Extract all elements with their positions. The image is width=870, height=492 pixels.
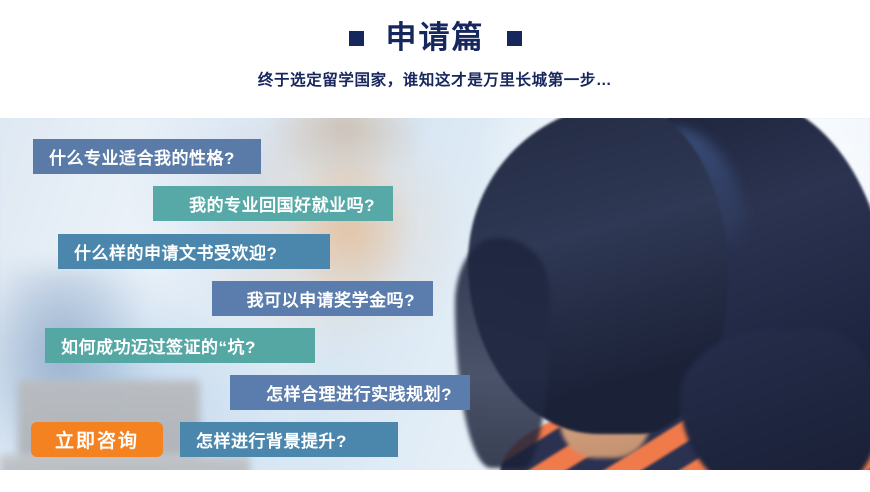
promo-banner-page: 申请篇 终于选定留学国家，谁知这才是万里长城第一步… 什么专	[0, 0, 870, 492]
question-tag-4[interactable]: 我可以申请奖学金吗?	[212, 281, 433, 316]
square-bullet-left-icon	[349, 31, 364, 46]
question-tag-2[interactable]: 我的专业回国好就业吗?	[153, 186, 393, 221]
question-tag-6[interactable]: 怎样合理进行实践规划?	[230, 375, 470, 410]
hero-banner: 什么专业适合我的性格?我的专业回国好就业吗?什么样的申请文书受欢迎?我可以申请奖…	[0, 118, 870, 470]
question-tag-3[interactable]: 什么样的申请文书受欢迎?	[58, 234, 330, 269]
page-subtitle: 终于选定留学国家，谁知这才是万里长城第一步…	[0, 70, 870, 92]
hair-over-shoulder	[680, 328, 870, 470]
consult-now-button[interactable]: 立即咨询	[31, 422, 163, 457]
square-bullet-right-icon	[507, 31, 522, 46]
title-row: 申请篇	[0, 21, 870, 55]
page-header: 申请篇 终于选定留学国家，谁知这才是万里长城第一步…	[0, 0, 870, 118]
hair-strand-front	[455, 238, 550, 468]
page-title: 申请篇	[386, 21, 485, 55]
footer-whitespace	[0, 470, 870, 492]
question-tag-7[interactable]: 怎样进行背景提升?	[180, 422, 398, 457]
question-tag-1[interactable]: 什么专业适合我的性格?	[33, 139, 261, 174]
question-tag-5[interactable]: 如何成功迈过签证的“坑?	[45, 328, 315, 363]
